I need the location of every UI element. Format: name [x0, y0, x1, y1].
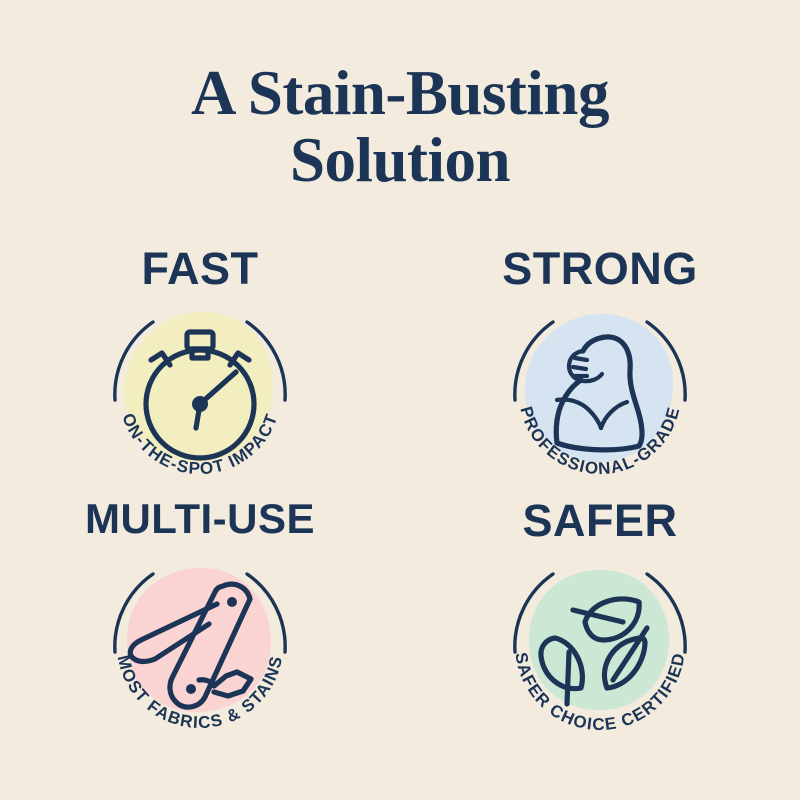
badge-safer: SAFER	[435, 498, 765, 748]
poster-canvas: A Stain-Busting Solution FAST	[0, 0, 800, 800]
badge-strong: STRONG	[435, 246, 765, 496]
badge-fast: FAST	[35, 246, 365, 496]
badge-fast-heading: FAST	[35, 246, 365, 291]
page-title: A Stain-Busting Solution	[0, 60, 800, 195]
title-line-1: A Stain-Busting	[0, 60, 800, 127]
benefits-grid: FAST	[0, 246, 800, 750]
badge-multi-use-emblem: MOST FABRICS & STAINS	[95, 540, 305, 750]
badge-strong-heading: STRONG	[435, 246, 765, 291]
badge-strong-emblem: PROFESSIONAL-GRADE	[495, 288, 705, 498]
badge-multi-use: MULTI-USE	[35, 498, 365, 748]
title-line-2: Solution	[0, 127, 800, 194]
badge-safer-emblem: SAFER CHOICE CERTIFIED	[495, 540, 705, 750]
badge-safer-heading: SAFER	[435, 498, 765, 543]
badge-multi-use-heading: MULTI-USE	[35, 498, 365, 540]
badge-fast-emblem: ON-THE-SPOT IMPACT	[95, 288, 305, 498]
